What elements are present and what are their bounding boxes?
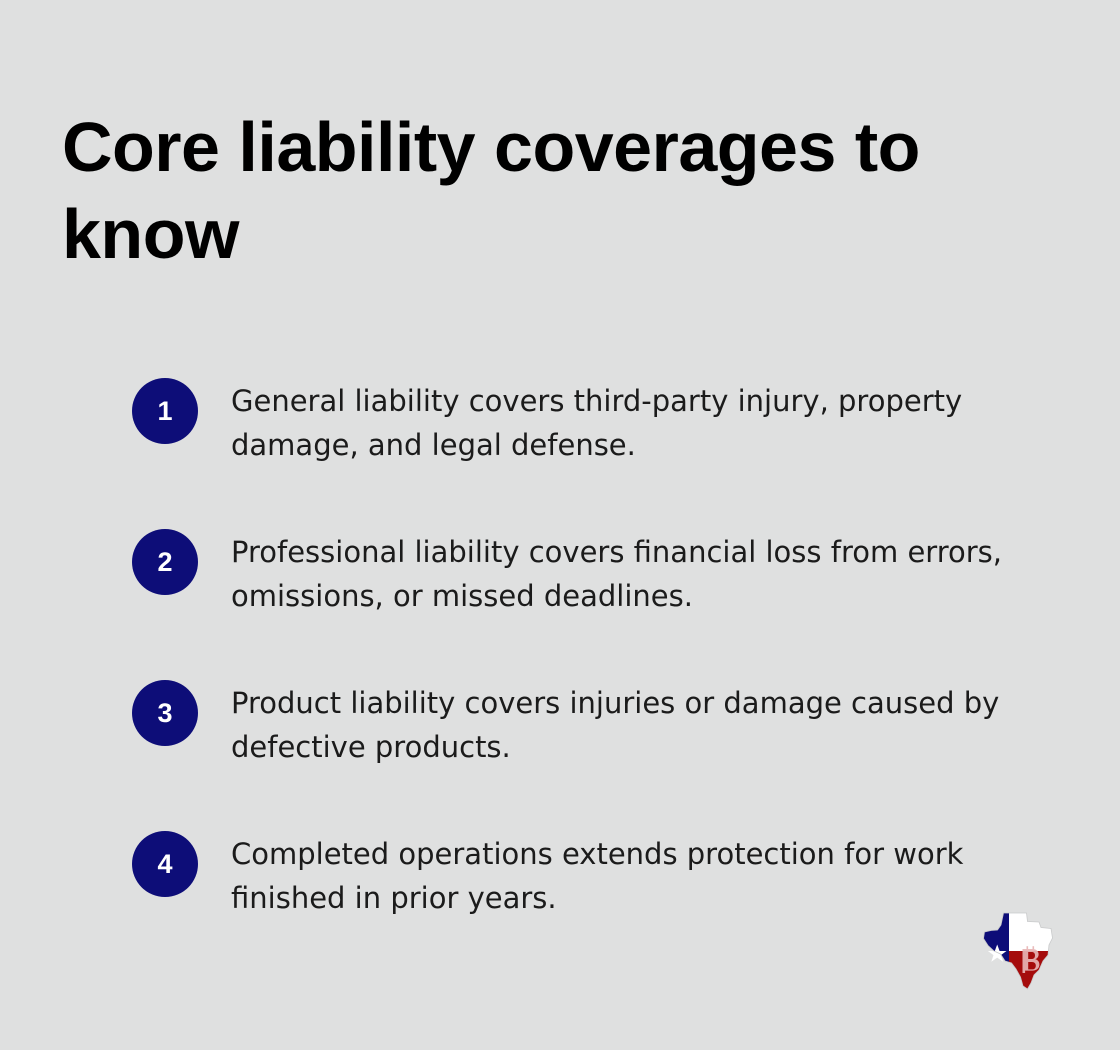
page-title: Core liability coverages to know [62,104,942,278]
list-item-number-badge: 1 [132,378,198,444]
list-item-text: Product liability covers injuries or dam… [231,680,1031,769]
list-item-text: General liability covers third-party inj… [231,378,1031,467]
flag-red-band [1009,951,1057,991]
flag-white-band [1009,911,1057,951]
texas-state-shape-icon [979,911,1057,991]
list-item: 1 General liability covers third-party i… [132,378,1052,467]
list-item-text: Professional liability covers financial … [231,529,1031,618]
list-item-number-badge: 4 [132,831,198,897]
list-item-text: Completed operations extends protection … [231,831,1031,920]
list-item: 2 Professional liability covers financia… [132,529,1052,618]
list-item: 3 Product liability covers injuries or d… [132,680,1052,769]
slide-canvas: Core liability coverages to know 1 Gener… [0,0,1120,1050]
numbered-list: 1 General liability covers third-party i… [132,378,1052,920]
list-item-number-badge: 2 [132,529,198,595]
list-item: 4 Completed operations extends protectio… [132,831,1052,920]
brand-logo [979,911,1057,991]
list-item-number-badge: 3 [132,680,198,746]
